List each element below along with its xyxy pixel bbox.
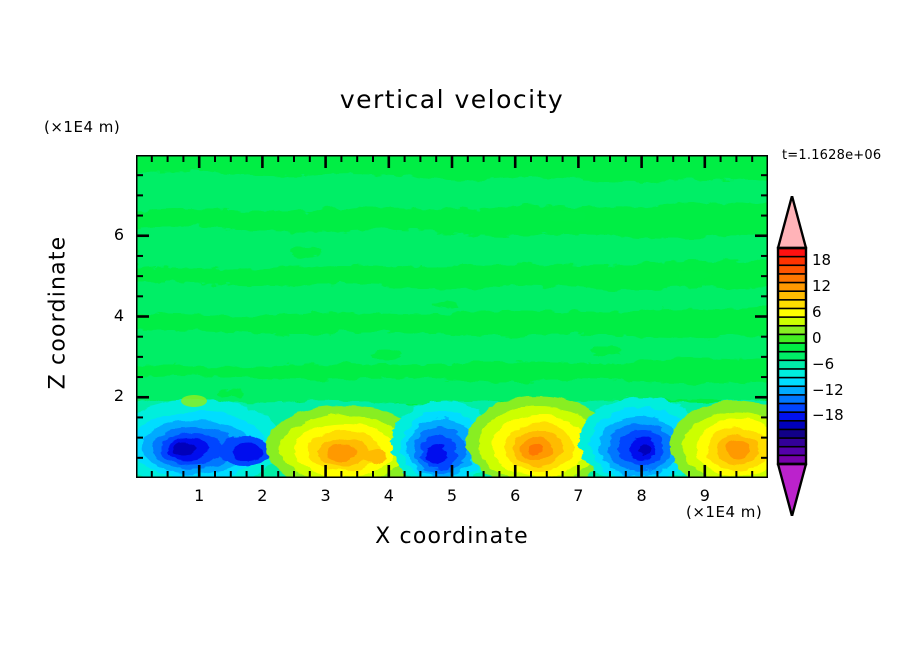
colorbar[interactable] bbox=[776, 196, 816, 516]
figure-canvas: vertical velocity (×1E4 m) (×1E4 m) X co… bbox=[0, 0, 904, 654]
colorbar-tick-label: 18 bbox=[812, 251, 831, 269]
page-title: vertical velocity bbox=[0, 85, 904, 114]
colorbar-tick-label: −12 bbox=[812, 381, 844, 399]
x-tick-label: 2 bbox=[242, 486, 282, 505]
contour-plot-area bbox=[136, 155, 768, 478]
colorbar-swatches[interactable] bbox=[776, 196, 816, 516]
x-tick-label: 1 bbox=[179, 486, 219, 505]
x-tick-label: 9 bbox=[685, 486, 725, 505]
x-axis-title: X coordinate bbox=[0, 524, 904, 549]
y-axis-title: Z coordinate bbox=[46, 203, 71, 423]
y-tick-label: 4 bbox=[90, 306, 124, 325]
timestamp-label: t=1.1628e+06 bbox=[782, 148, 881, 163]
colorbar-tick-labels: 181260−6−12−18 bbox=[0, 0, 1, 1]
x-tick-label: 5 bbox=[432, 486, 472, 505]
colorbar-tick-label: −18 bbox=[812, 406, 844, 424]
x-unit-label: (×1E4 m) bbox=[686, 503, 762, 521]
colorbar-tick-label: 12 bbox=[812, 277, 831, 295]
y-tick-label: 2 bbox=[90, 386, 124, 405]
colorbar-tick-label: 6 bbox=[812, 303, 822, 321]
x-tick-label: 6 bbox=[495, 486, 535, 505]
x-tick-label: 4 bbox=[369, 486, 409, 505]
colorbar-tick-label: 0 bbox=[812, 329, 822, 347]
colorbar-under-cap bbox=[778, 464, 806, 516]
x-tick-label: 3 bbox=[306, 486, 346, 505]
colorbar-over-cap bbox=[778, 196, 806, 248]
colorbar-tick-label: −6 bbox=[812, 355, 834, 373]
x-tick-label: 7 bbox=[558, 486, 598, 505]
x-tick-labels: 123456789 bbox=[0, 0, 904, 1]
z-unit-label: (×1E4 m) bbox=[44, 118, 120, 136]
y-tick-label: 6 bbox=[90, 225, 124, 244]
x-tick-label: 8 bbox=[622, 486, 662, 505]
axis-ticks bbox=[136, 155, 768, 478]
